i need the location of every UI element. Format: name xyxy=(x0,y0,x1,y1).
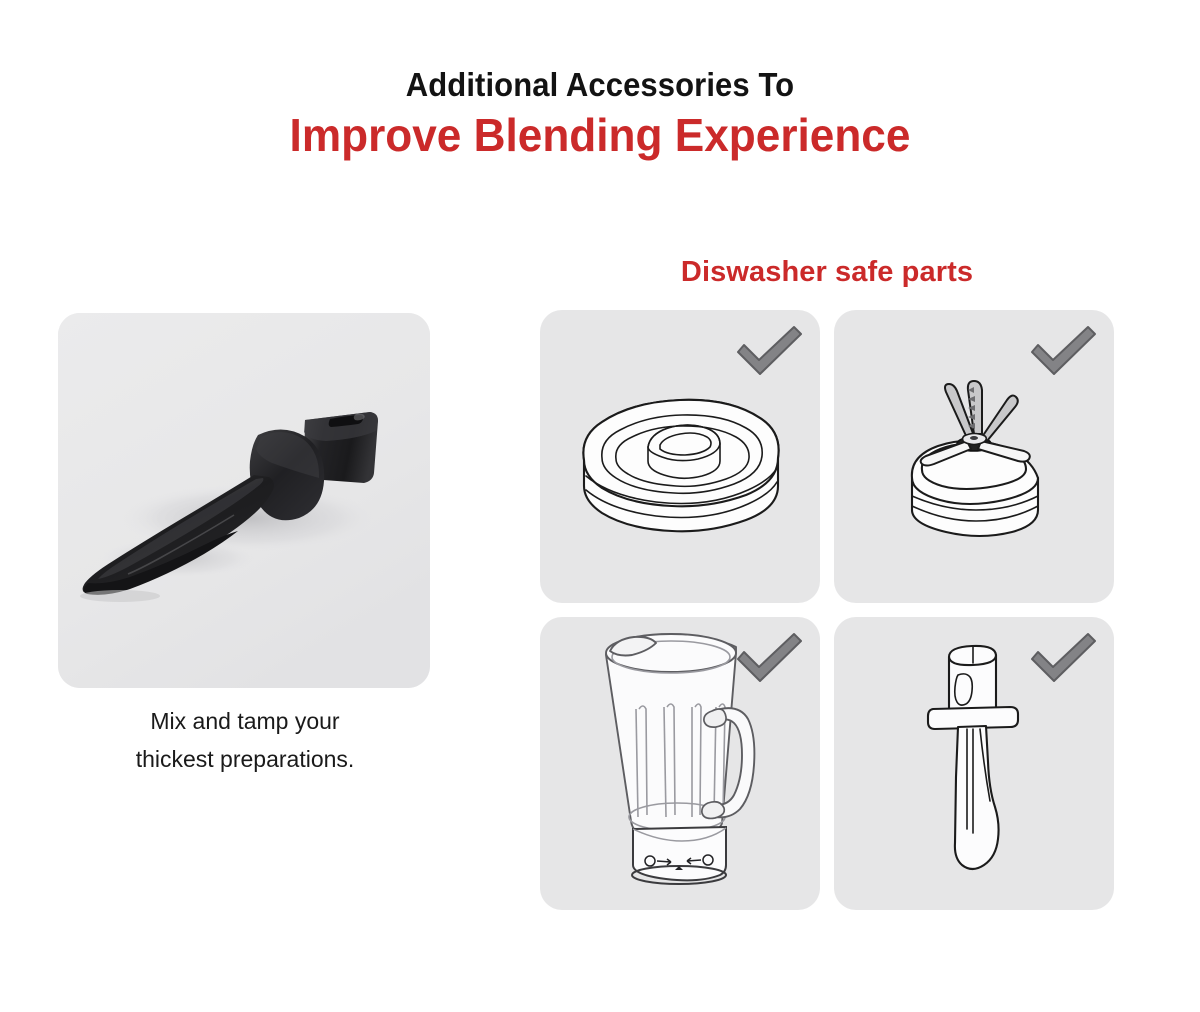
tamper-product-photo xyxy=(58,313,430,688)
checkmark-icon xyxy=(1026,322,1100,382)
tamper-caption-line1: Mix and tamp your xyxy=(40,703,450,741)
tamper-caption: Mix and tamp your thickest preparations. xyxy=(40,703,450,779)
title-line-primary: Additional Accessories To xyxy=(36,66,1164,104)
dishwasher-section-heading: Diswasher safe parts xyxy=(540,256,1114,289)
accessories-infographic: Additional Accessories To Improve Blendi… xyxy=(0,0,1200,1012)
dishwasher-card-lid xyxy=(540,310,820,603)
title-line-secondary: Improve Blending Experience xyxy=(24,110,1176,162)
dishwasher-safe-grid xyxy=(540,310,1114,905)
checkmark-icon xyxy=(732,322,806,382)
checkmark-icon xyxy=(732,629,806,689)
page-title: Additional Accessories To Improve Blendi… xyxy=(0,66,1200,161)
tamper-photo-illustration xyxy=(58,313,430,688)
dishwasher-card-jar xyxy=(540,617,820,910)
tamper-caption-line2: thickest preparations. xyxy=(40,741,450,779)
dishwasher-card-tamper xyxy=(834,617,1114,910)
dishwasher-card-blade-assembly xyxy=(834,310,1114,603)
checkmark-icon xyxy=(1026,629,1100,689)
